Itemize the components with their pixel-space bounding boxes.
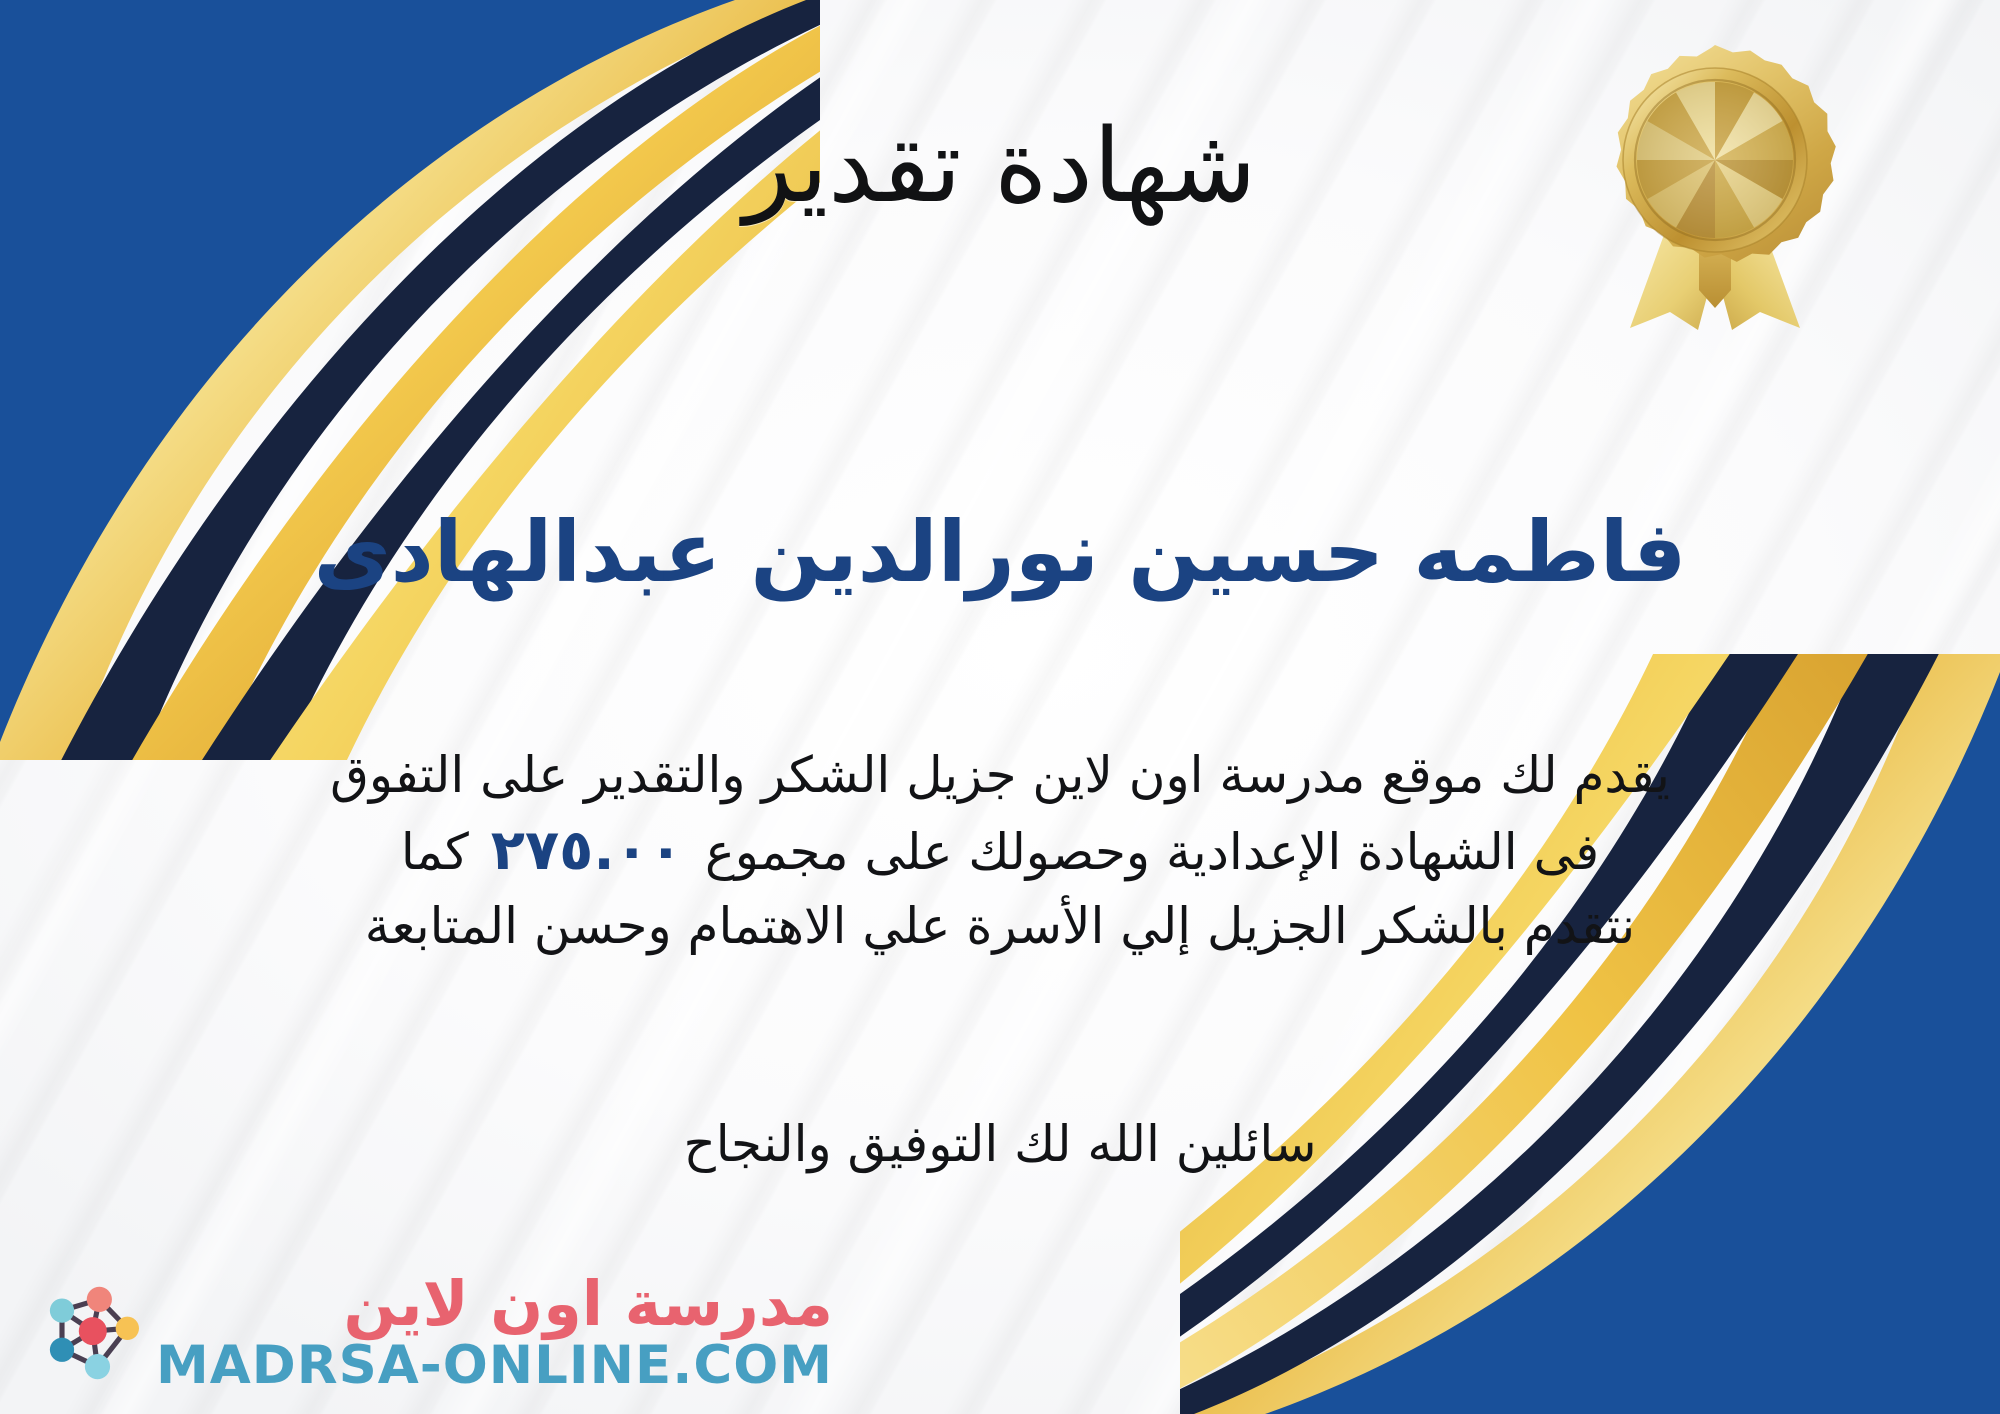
network-nodes-icon xyxy=(34,1277,146,1389)
body-line-1: يقدم لك موقع مدرسة اون لاين جزيل الشكر و… xyxy=(70,740,1930,811)
recipient-name: فاطمه حسين نورالدين عبدالهادى xyxy=(0,505,2000,599)
brand-website: MADRSA-ONLINE.COM xyxy=(156,1339,833,1392)
certificate-body: يقدم لك موقع مدرسة اون لاين جزيل الشكر و… xyxy=(70,740,1930,962)
body-line-2-suffix: كما xyxy=(401,823,469,881)
brand-arabic-name: مدرسة اون لاين xyxy=(343,1273,833,1335)
score-value: ٢٧٥.٠٠ xyxy=(469,818,705,883)
body-line-3: نتقدم بالشكر الجزيل إلي الأسرة علي الاهت… xyxy=(70,891,1930,962)
brand-text: مدرسة اون لاين MADRSA-ONLINE.COM xyxy=(156,1273,833,1392)
certificate-page: شهادة تقدير فاطمه حسين نورالدين عبدالهاد… xyxy=(0,0,2000,1414)
body-line-2-prefix: فى الشهادة الإعدادية وحصولك على مجموع xyxy=(705,823,1599,881)
page-title: شهادة تقدير xyxy=(0,112,2000,222)
closing-line: سائلين الله لك التوفيق والنجاح xyxy=(0,1115,2000,1173)
brand-logo[interactable]: مدرسة اون لاين MADRSA-ONLINE.COM xyxy=(34,1273,833,1392)
body-line-2: فى الشهادة الإعدادية وحصولك على مجموع٢٧٥… xyxy=(70,811,1930,891)
